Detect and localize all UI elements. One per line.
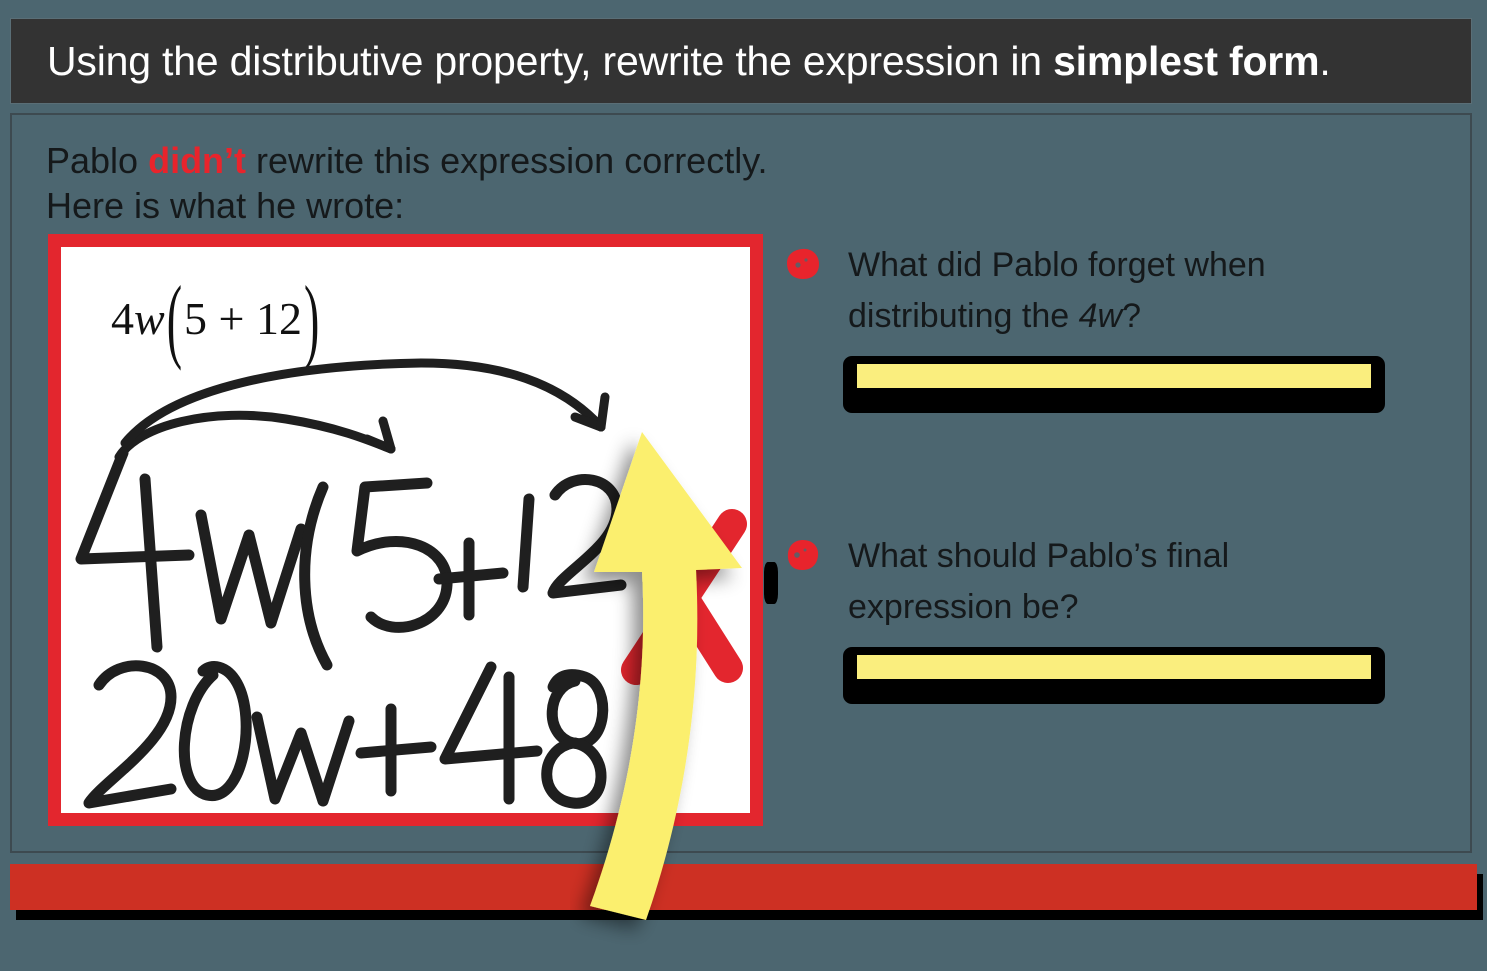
prompt-line-2: Here is what he wrote: [46,183,768,228]
red-blob-bullet-icon [786,539,820,571]
yellow-up-arrow-icon [570,420,780,950]
red-blob-bullet-icon [786,248,820,280]
question-1-italic: 4w [1079,297,1122,335]
prompt-line1-before: Pablo [46,140,148,181]
question-block-2: What should Pablo’s final expression be? [786,531,1406,704]
question-2-before: What should Pablo’s final [848,537,1229,575]
prompt-line1-after: rewrite this expression correctly. [246,140,768,181]
question-text-1: What did Pablo forget when distributing … [848,240,1368,342]
title-suffix: . [1319,38,1330,84]
title-emphasis: simplest form [1053,38,1319,84]
answer-highlight-2[interactable] [857,655,1371,679]
question-2-after: expression be? [848,588,1079,626]
question-row-1: What did Pablo forget when distributing … [786,240,1406,342]
slide-canvas: Using the distributive property, rewrite… [0,0,1487,971]
prompt-negation: didn’t [148,140,246,181]
distribute-arrow-to-5-stroke [119,415,391,457]
slide-title-bar: Using the distributive property, rewrite… [10,18,1472,104]
distribute-arrow-to-12-stroke [125,363,601,443]
question-row-2: What should Pablo’s final expression be? [786,531,1406,633]
question-1-before: What did Pablo forget when distributing … [848,246,1266,335]
page-title: Using the distributive property, rewrite… [47,38,1331,85]
prompt-line-1: Pablo didn’t rewrite this expression cor… [46,138,768,183]
question-block-1: What did Pablo forget when distributing … [786,240,1406,413]
title-prefix: Using the distributive property, rewrite… [47,38,1053,84]
question-text-2: What should Pablo’s final expression be? [848,531,1368,633]
answer-highlight-1[interactable] [857,364,1371,388]
question-1-after: ? [1122,297,1141,335]
prompt-text: Pablo didn’t rewrite this expression cor… [46,138,768,228]
answer-field-2[interactable] [843,647,1385,704]
questions-column: What did Pablo forget when distributing … [786,240,1406,730]
answer-field-1[interactable] [843,356,1385,413]
